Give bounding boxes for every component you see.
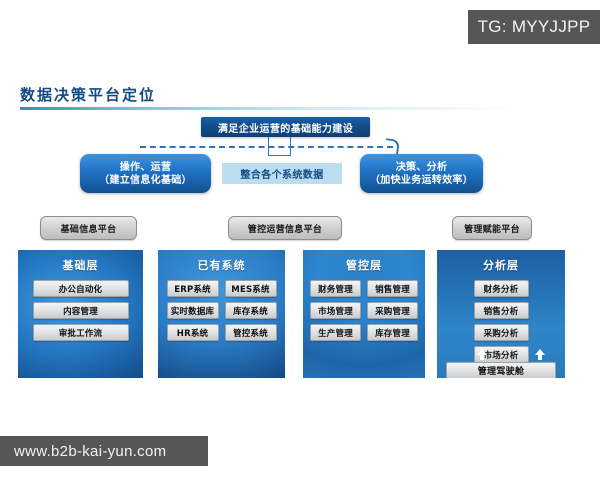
layer-items: 财务管理 销售管理 市场管理 采购管理 生产管理 库存管理: [303, 280, 425, 341]
layer-item: 库存管理: [367, 324, 418, 341]
management-cockpit-bar: 管理驾驶舱: [446, 362, 556, 378]
platform-label-basic: 基础信息平台: [40, 216, 137, 240]
layer-column-existing-systems: 已有系统 ERP系统 MES系统 实时数据库 库存系统 HR系统 管控系统: [158, 250, 285, 378]
layer-item: MES系统: [225, 280, 277, 297]
layer-item: 采购分析: [474, 324, 529, 341]
layer-column-control: 管控层 财务管理 销售管理 市场管理 采购管理 生产管理 库存管理: [303, 250, 425, 378]
layer-item: 内容管理: [33, 302, 129, 319]
layer-item: 销售管理: [367, 280, 418, 297]
layer-item: HR系统: [167, 324, 219, 341]
up-arrow-icon: [535, 349, 545, 355]
decision-pill: 决策、分析 （加快业务运转效率）: [360, 154, 483, 193]
layer-item: 市场管理: [310, 302, 361, 319]
connector-stem: [268, 137, 291, 156]
layer-item: 财务分析: [474, 280, 529, 297]
slide-canvas: TG: MYYJJPP 数据决策平台定位 满足企业运营的基础能力建设 操作、运营…: [0, 0, 600, 480]
title-underline: [20, 107, 580, 110]
page-title: 数据决策平台定位: [20, 86, 580, 104]
layer-item: 办公自动化: [33, 280, 129, 297]
layer-item: ERP系统: [167, 280, 219, 297]
decision-pill-line2: （加快业务运转效率）: [370, 174, 473, 187]
decision-pill-line1: 决策、分析: [396, 161, 448, 174]
layer-title: 基础层: [18, 257, 143, 273]
layer-item: 销售分析: [474, 302, 529, 319]
layer-items: ERP系统 MES系统 实时数据库 库存系统 HR系统 管控系统: [158, 280, 285, 341]
page-title-block: 数据决策平台定位: [20, 86, 580, 110]
layer-title: 分析层: [437, 257, 565, 273]
integration-tag: 整合各个系统数据: [222, 163, 342, 184]
layer-column-analysis: 分析层 财务分析 销售分析 采购分析 市场分析 客户分析 产品分析 管理驾驶舱: [437, 250, 565, 378]
operations-pill-line1: 操作、运营: [120, 161, 172, 174]
cockpit-arrows: [437, 349, 565, 360]
layer-item: 生产管理: [310, 324, 361, 341]
layer-item: 实时数据库: [167, 302, 219, 319]
telegram-watermark: TG: MYYJJPP: [468, 10, 600, 44]
layer-item: 财务管理: [310, 280, 361, 297]
site-watermark: www.b2b-kai-yun.com: [0, 436, 208, 466]
layer-column-basic: 基础层 办公自动化 内容管理 审批工作流: [18, 250, 143, 378]
layer-item: 审批工作流: [33, 324, 129, 341]
layer-item: 采购管理: [367, 302, 418, 319]
operations-pill-line2: （建立信息化基础）: [99, 174, 192, 187]
operations-pill: 操作、运营 （建立信息化基础）: [80, 154, 211, 193]
layer-title: 已有系统: [158, 257, 285, 273]
layer-item: 管控系统: [225, 324, 277, 341]
top-goal-banner: 满足企业运营的基础能力建设: [201, 117, 370, 137]
layer-items: 办公自动化 内容管理 审批工作流: [18, 280, 143, 341]
platform-label-control: 管控运营信息平台: [228, 216, 342, 240]
dashed-connector-line: [140, 146, 393, 148]
platform-label-enablement: 管理赋能平台: [452, 216, 532, 240]
layer-title: 管控层: [303, 257, 425, 273]
layer-item: 库存系统: [225, 302, 277, 319]
up-arrow-icon: [477, 349, 487, 355]
